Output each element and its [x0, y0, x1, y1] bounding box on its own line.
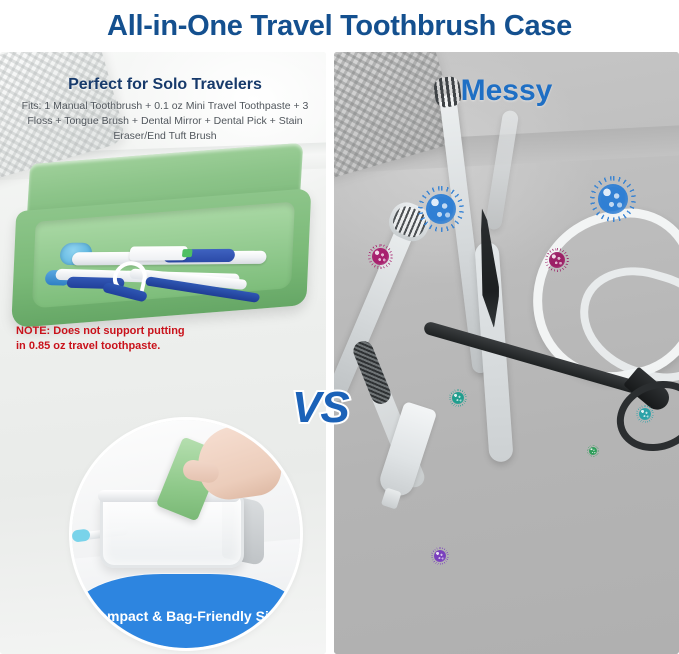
page-title: All-in-One Travel Toothbrush Case: [107, 10, 572, 43]
germ-spikes: [587, 445, 599, 457]
germ-purple-bottom-icon: [434, 550, 446, 562]
germ-spikes: [636, 405, 654, 423]
germ-blue-large-right-icon: [598, 184, 628, 214]
product-case-photo: [1, 140, 324, 344]
left-panel-description: Fits: 1 Manual Toothbrush + 0.1 oz Mini …: [20, 99, 310, 144]
germ-teal-center-icon: [452, 392, 464, 404]
germ-spikes: [590, 176, 636, 222]
left-panel-solo-travelers: Perfect for Solo Travelers Fits: 1 Manua…: [0, 52, 326, 654]
left-panel-copy: Perfect for Solo Travelers Fits: 1 Manua…: [20, 76, 310, 144]
comparison-panels: Perfect for Solo Travelers Fits: 1 Manua…: [0, 52, 679, 654]
right-panel-messy: Messy: [334, 52, 679, 654]
title-bar: All-in-One Travel Toothbrush Case: [0, 0, 679, 52]
note-text: NOTE: Does not support putting in 0.85 o…: [16, 324, 196, 353]
mini-toothpaste-icon: [129, 246, 188, 261]
inset-banner-label: Compact & Bag-Friendly Size: [88, 608, 283, 625]
germ-blue-large-left-icon: [426, 194, 456, 224]
germ-magenta-mid-icon: [549, 252, 565, 268]
germ-teal-right-icon: [639, 408, 651, 420]
left-panel-headline: Perfect for Solo Travelers: [20, 76, 310, 94]
germ-spikes: [431, 547, 449, 565]
germ-magenta-left-icon: [372, 248, 389, 265]
infographic-page: All-in-One Travel Toothbrush Case: [0, 0, 679, 654]
hand-icon: [193, 421, 284, 504]
panel-divider: [326, 52, 334, 654]
inset-banner: Compact & Bag-Friendly Size: [72, 574, 300, 648]
right-panel-label: Messy: [334, 74, 679, 108]
germ-green-small-icon: [589, 447, 597, 455]
bag-friendly-inset-photo: Compact & Bag-Friendly Size: [72, 420, 300, 648]
case-body: [11, 188, 311, 328]
germ-spikes: [418, 186, 464, 232]
versus-badge: VS: [292, 383, 349, 433]
case-interior: [32, 202, 295, 309]
germ-spikes: [449, 389, 467, 407]
germ-spikes: [545, 248, 569, 272]
